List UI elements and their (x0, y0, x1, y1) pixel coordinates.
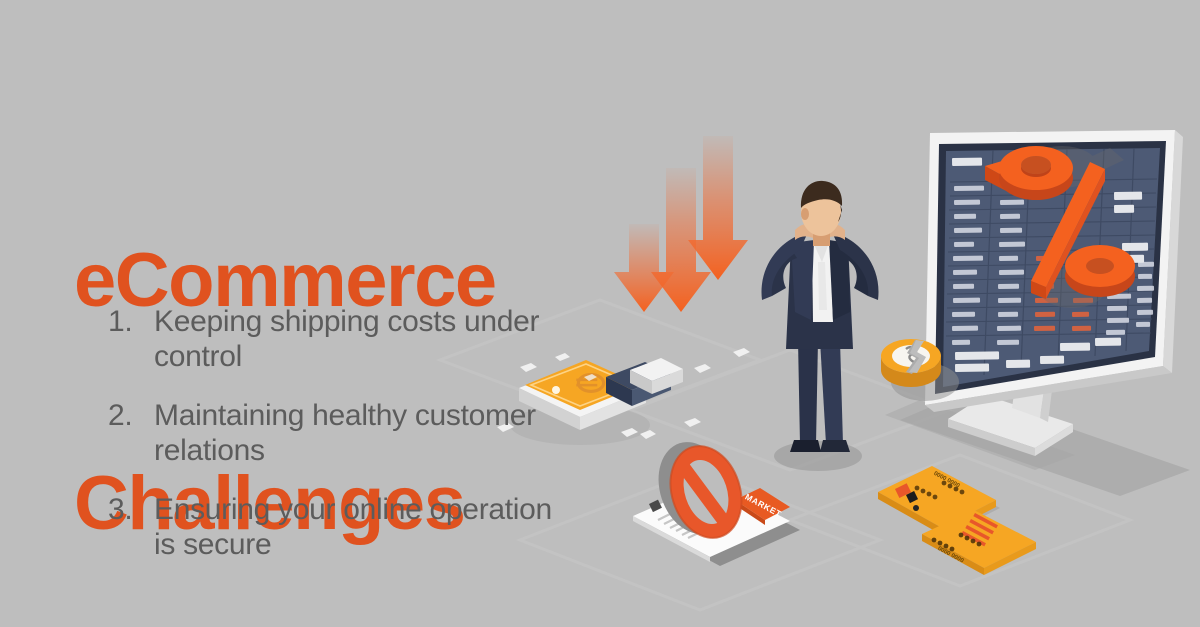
list-item-label: Ensuring your online operation is secure (154, 492, 578, 562)
stressed-businessman (761, 181, 878, 471)
list-item-label: Maintaining healthy customer relations (154, 398, 578, 468)
challenge-list: 1. Keeping shipping costs under control … (68, 304, 578, 587)
list-item-number: 2. (108, 398, 154, 433)
list-item-number: 3. (108, 492, 154, 527)
credit-cards: 0000 0000 (878, 466, 1036, 575)
infographic-canvas: MARKET (0, 0, 1200, 627)
list-item-label: Keeping shipping costs under control (154, 304, 578, 374)
list-item: 2. Maintaining healthy customer relation… (108, 398, 578, 468)
list-item: 1. Keeping shipping costs under control (108, 304, 578, 374)
list-item-number: 1. (108, 304, 154, 339)
list-item: 3. Ensuring your online operation is sec… (108, 492, 578, 562)
monitor (885, 130, 1190, 496)
text-content: eCommerce Challenges 1. Keeping shipping… (0, 0, 600, 627)
